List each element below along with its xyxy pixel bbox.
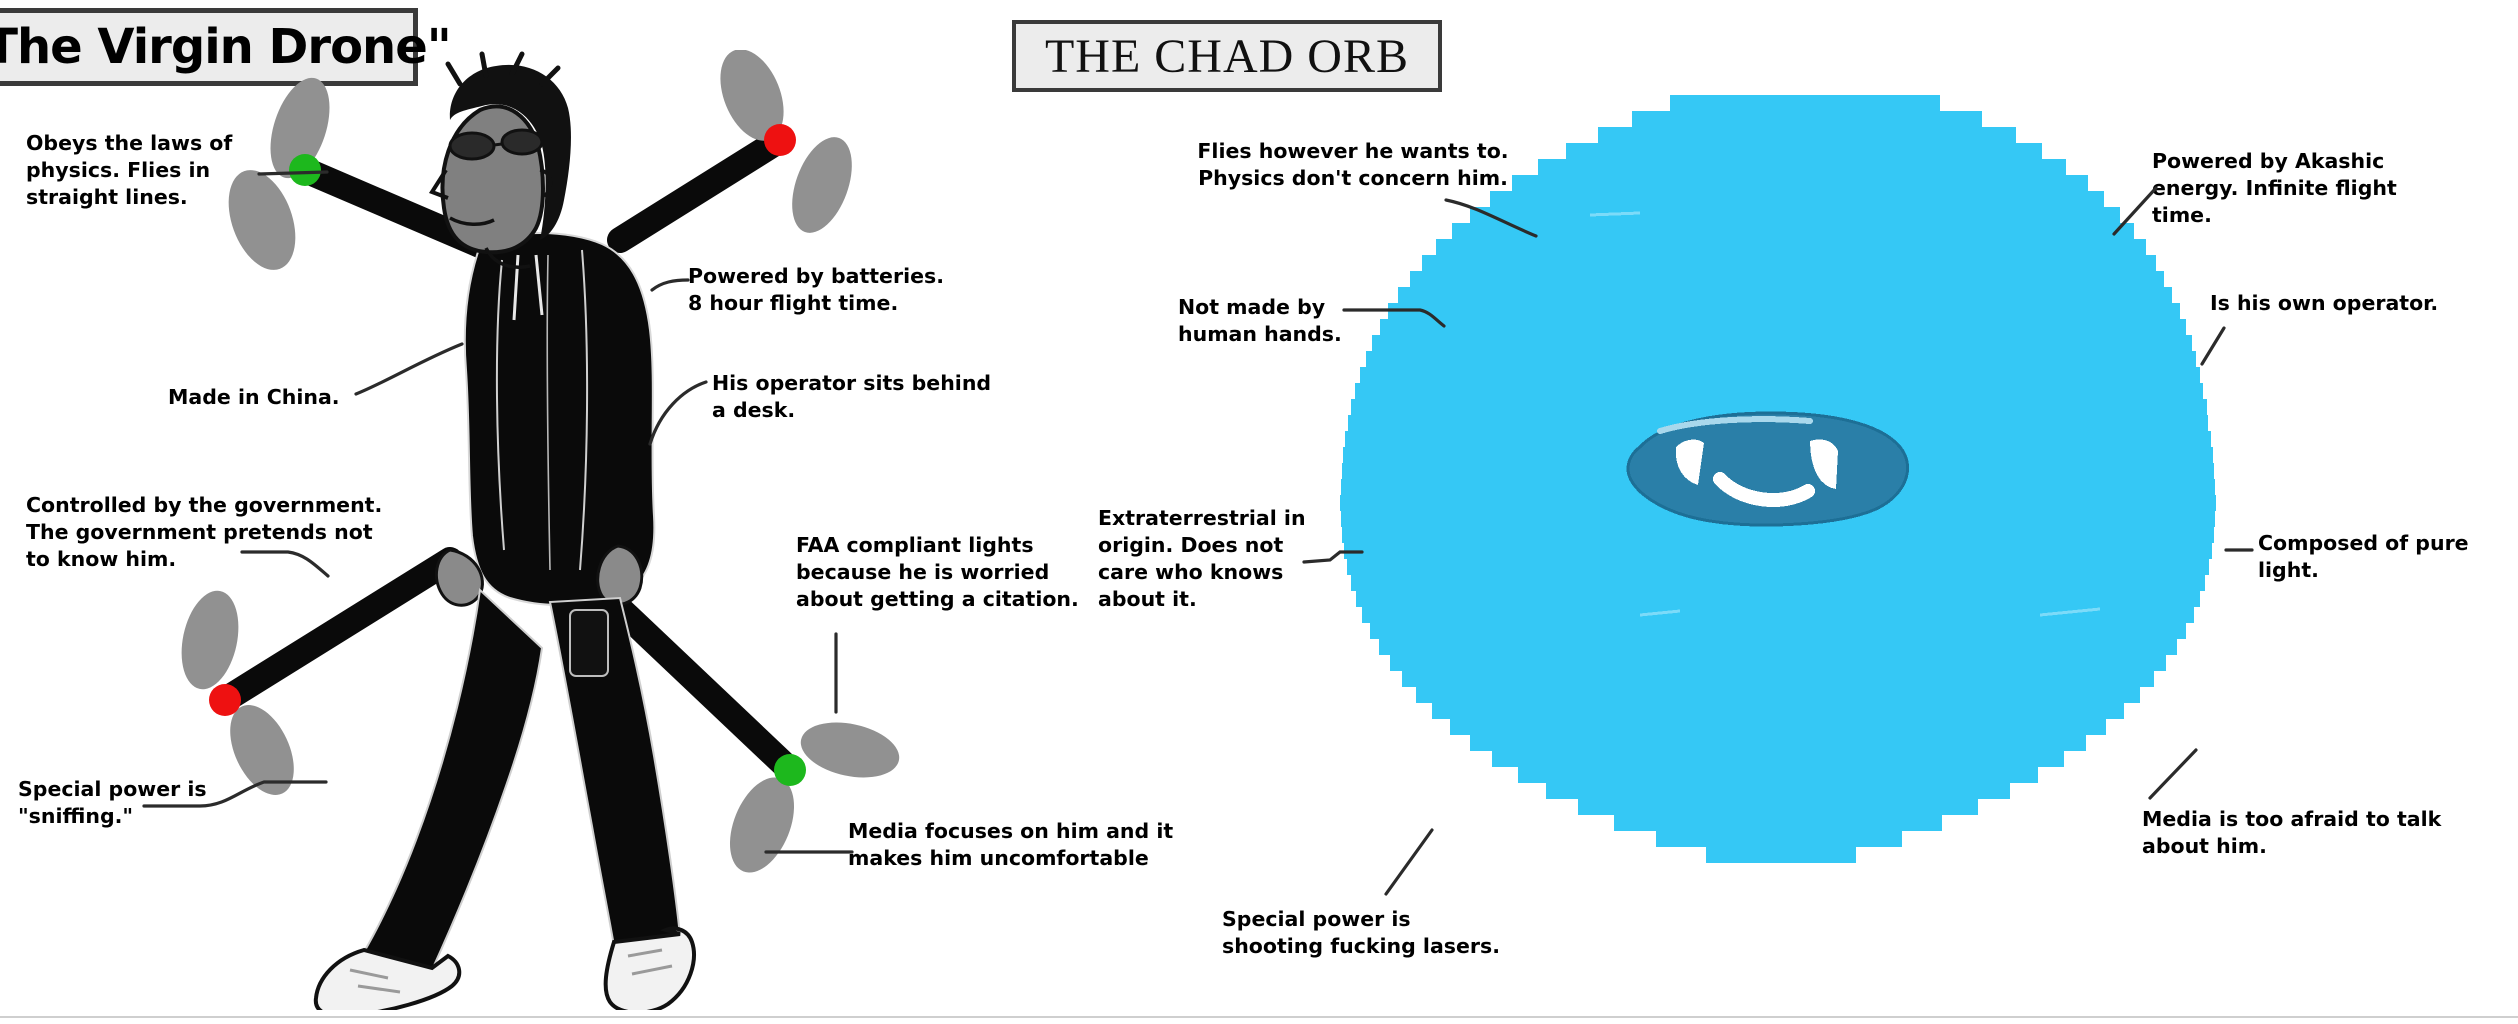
led-red-lower-left [209, 684, 241, 716]
label-media-uncomfortable: Media focuses on him and it makes him un… [848, 818, 1188, 872]
label-akashic-energy: Powered by Akashic energy. Infinite flig… [2152, 148, 2452, 229]
led-green-upper-left [289, 154, 321, 186]
bottom-divider [0, 1016, 2518, 1018]
label-special-power-sniff: Special power is "sniffing." [18, 776, 268, 830]
label-special-power-laser: Special power is shooting fucking lasers… [1222, 906, 1552, 960]
label-made-in-china: Made in China. [168, 384, 408, 411]
label-obeys-physics: Obeys the laws of physics. Flies in stra… [26, 130, 256, 211]
label-media-afraid: Media is too afraid to talk about him. [2142, 806, 2502, 860]
label-pure-light: Composed of pure light. [2258, 530, 2518, 584]
orb-face [1628, 413, 1908, 525]
led-green-lower-right [774, 754, 806, 786]
chad-title-text: THE CHAD ORB [1045, 29, 1409, 84]
label-own-operator: Is his own operator. [2210, 290, 2518, 317]
chad-orb-figure [1340, 95, 2240, 910]
label-powered-batteries: Powered by batteries. 8 hour flight time… [688, 263, 988, 317]
label-faa-lights: FAA compliant lights because he is worri… [796, 532, 1096, 613]
chad-title-banner: THE CHAD ORB [1012, 20, 1442, 92]
label-extraterrestrial: Extraterrestrial in origin. Does not car… [1098, 505, 1348, 613]
led-red-upper-right [764, 124, 796, 156]
virgin-vs-chad-meme: "The Virgin Drone" [0, 0, 2518, 1024]
chad-orb-body [1340, 95, 2240, 910]
label-operator-desk: His operator sits behind a desk. [712, 370, 1012, 424]
virgin-legs [364, 590, 680, 970]
label-not-human-hands: Not made by human hands. [1178, 294, 1408, 348]
label-government-control: Controlled by the government. The govern… [26, 492, 426, 573]
label-flies-however: Flies however he wants to. Physics don't… [1158, 138, 1548, 192]
